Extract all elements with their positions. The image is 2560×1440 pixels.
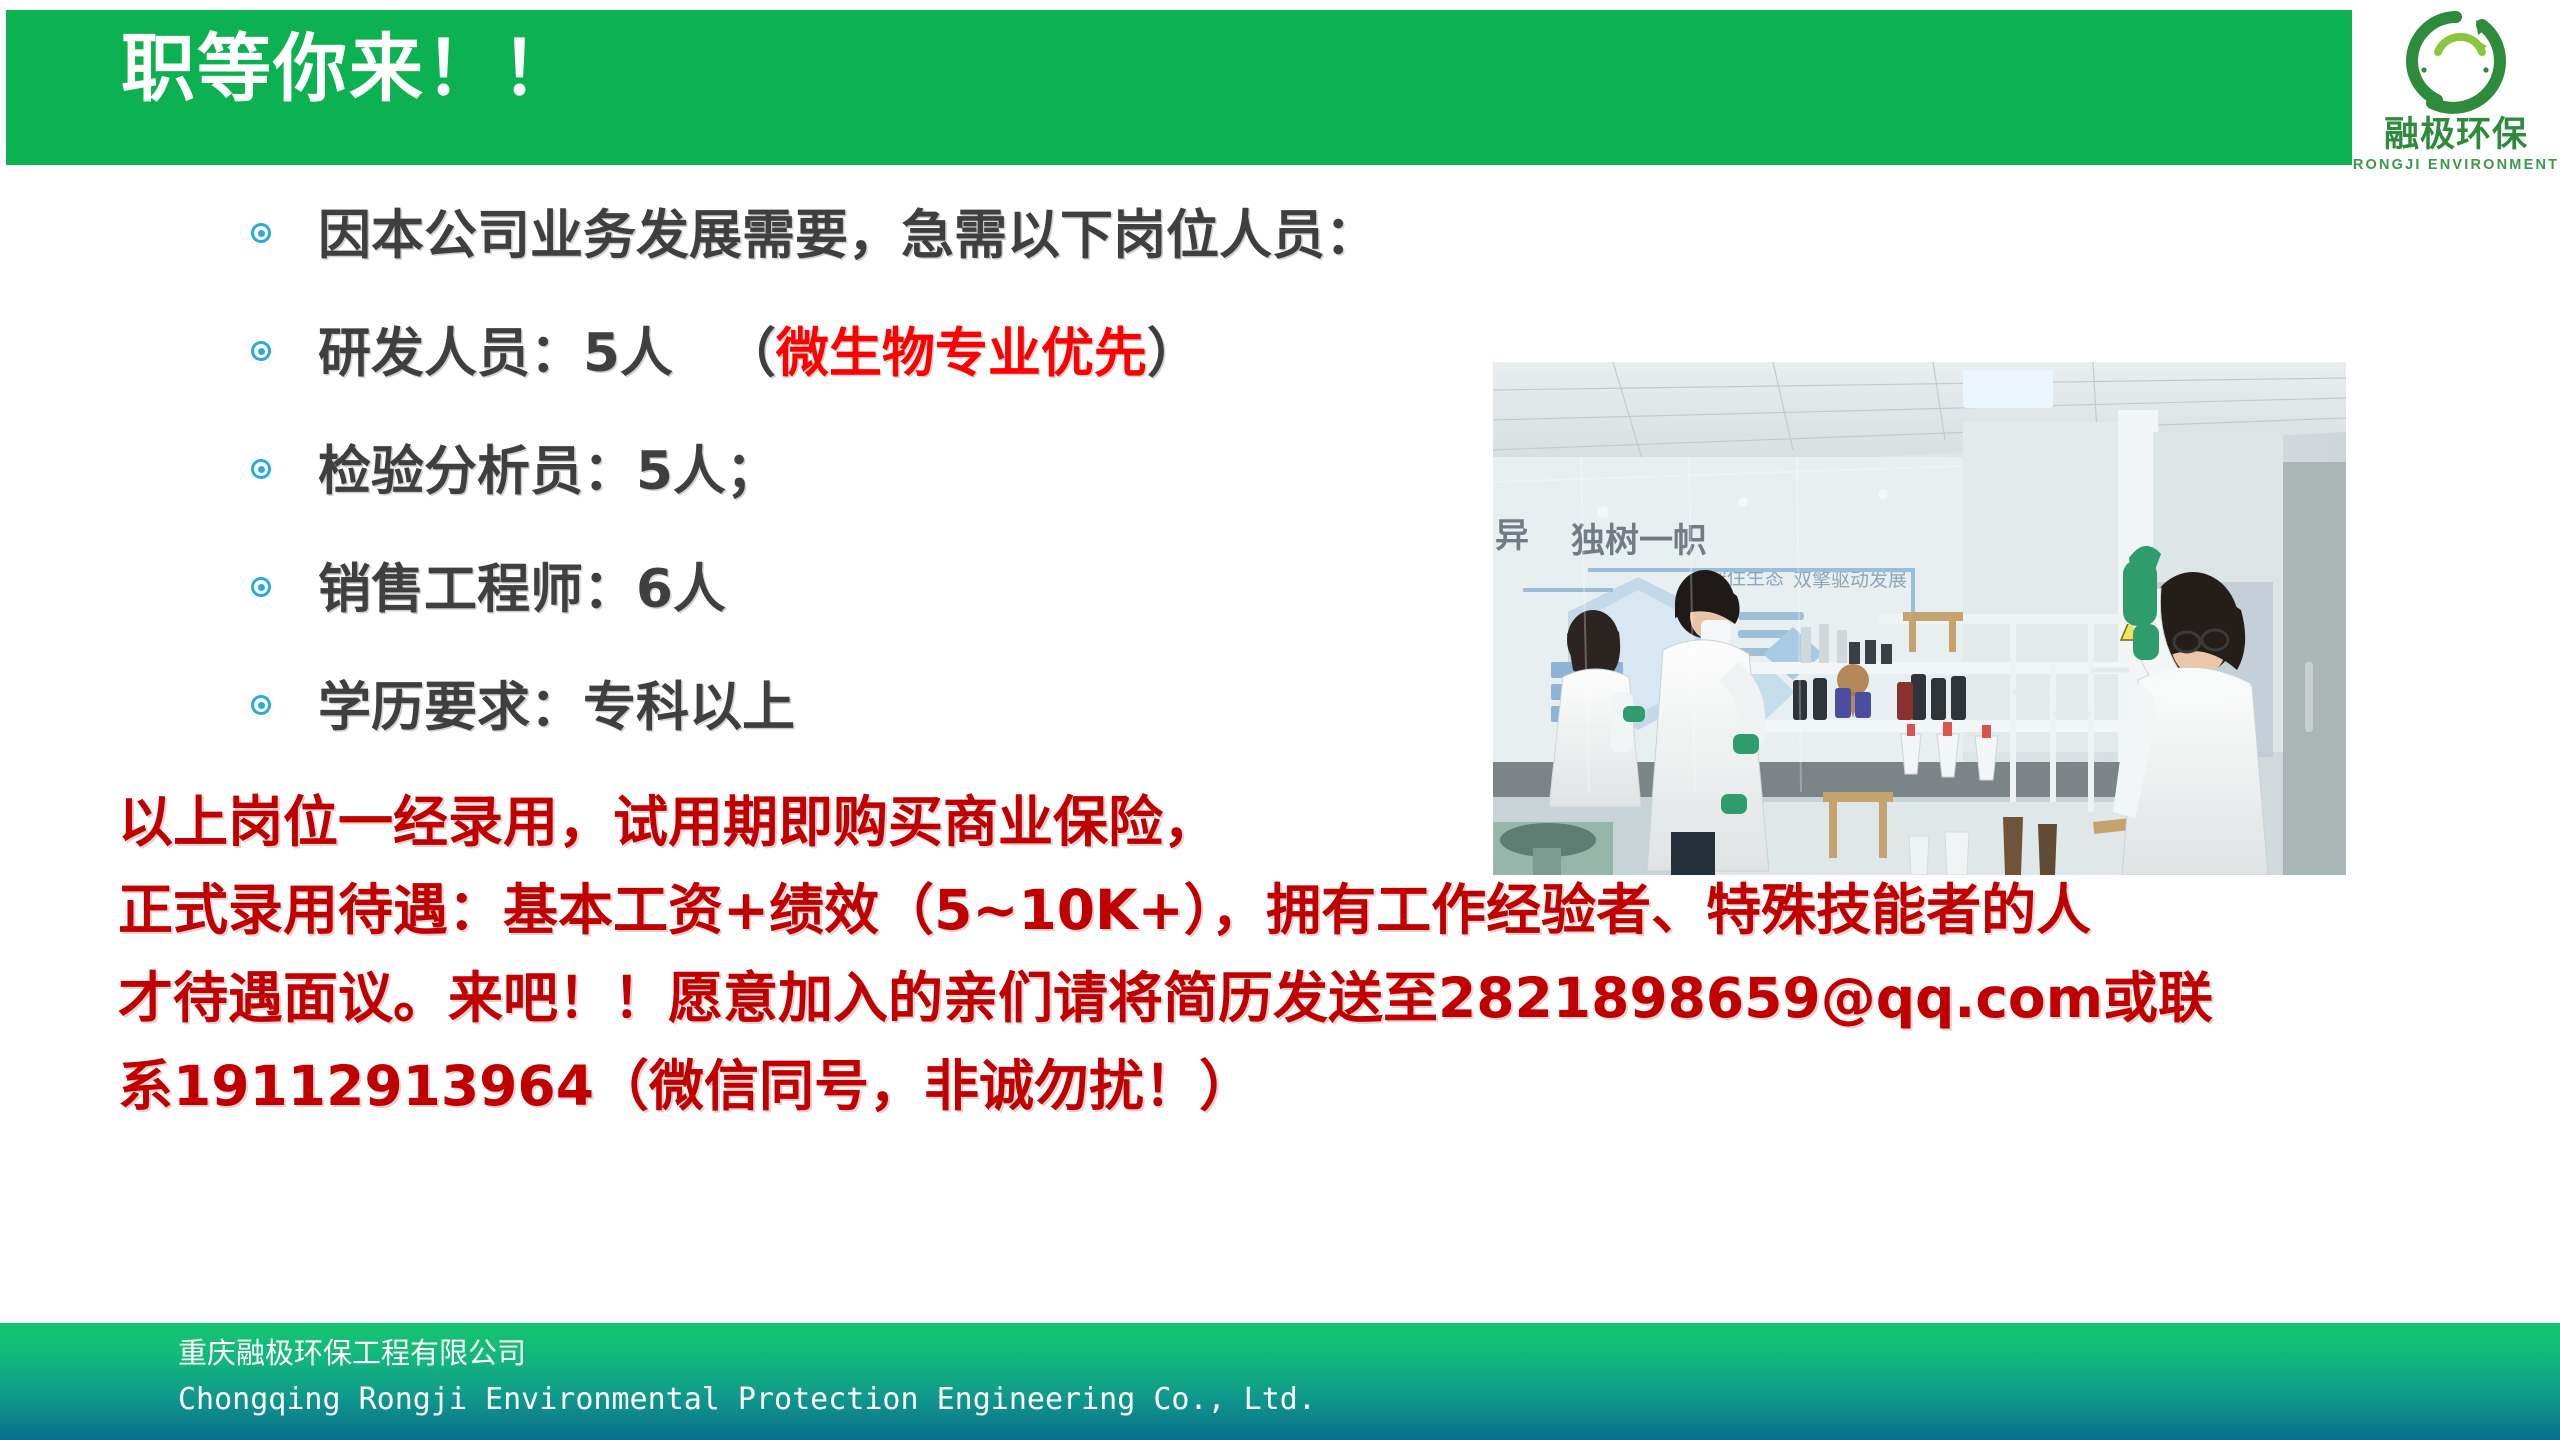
svg-text:异: 异	[1495, 516, 1529, 556]
recycle-circle-icon	[2402, 8, 2510, 116]
svg-text:独树一帜: 独树一帜	[1571, 521, 1707, 561]
paren-close: ）	[1147, 323, 1200, 384]
bullet-dot-icon	[246, 572, 280, 606]
list-item: 销售工程师：6人	[246, 550, 1546, 628]
bullet-label-intro: 因本公司业务发展需要，急需以下岗位人员：	[318, 209, 1378, 262]
logo-name-cn: 融极环保	[2384, 118, 2528, 153]
list-item: 因本公司业务发展需要，急需以下岗位人员：	[246, 196, 1546, 274]
notice-line-3: 才待遇面议。来吧！！愿意加入的亲们请将简历发送至2821898659@qq.co…	[118, 958, 2498, 1038]
footer-company-en: Chongqing Rongji Environmental Protectio…	[178, 1385, 1316, 1415]
list-item: 学历要求：专科以上	[246, 668, 1546, 746]
company-logo: 融极环保 RONGJI ENVIRONMENT	[2352, 0, 2560, 200]
notice-paragraph: 以上岗位一经录用，试用期即购买商业保险， 正式录用待遇：基本工资+绩效（5~10…	[118, 782, 2498, 1134]
paren-open: （	[723, 323, 776, 384]
bullet-dot-icon	[246, 690, 280, 724]
bullet-label-rd: 研发人员：5人（微生物专业优先）	[318, 327, 1200, 380]
bullet-label-education: 学历要求：专科以上	[318, 681, 795, 734]
slide-canvas: 职等你来！！ 融极环保 RONGJI ENVIRONMENT	[0, 0, 2560, 1440]
bullet-dot-icon	[246, 336, 280, 370]
bullet-dot-icon	[246, 218, 280, 252]
header-bar: 职等你来！！	[6, 10, 2546, 165]
notice-line-1: 以上岗位一经录用，试用期即购买商业保险，	[118, 782, 2498, 862]
rd-count-text: 研发人员：5人	[318, 323, 673, 384]
notice-line-4: 系19112913964（微信同号，非诚勿扰！）	[118, 1046, 2498, 1126]
job-bullet-list: 因本公司业务发展需要，急需以下岗位人员： 研发人员：5人（微生物专业优先） 检验…	[246, 196, 1546, 786]
footer-bar: 重庆融极环保工程有限公司 Chongqing Rongji Environmen…	[0, 1323, 2560, 1440]
bullet-label-sales-engineer: 销售工程师：6人	[318, 563, 726, 616]
bullet-dot-icon	[246, 454, 280, 488]
rd-preference-highlight: 微生物专业优先	[776, 323, 1147, 384]
logo-name-en: RONGJI ENVIRONMENT	[2353, 158, 2559, 173]
bullet-label-analyst: 检验分析员：5人；	[318, 445, 779, 498]
page-title: 职等你来！！	[121, 32, 577, 106]
list-item: 检验分析员：5人；	[246, 432, 1546, 510]
list-item: 研发人员：5人（微生物专业优先）	[246, 314, 1546, 392]
footer-company-cn: 重庆融极环保工程有限公司	[178, 1339, 526, 1368]
notice-line-2: 正式录用待遇：基本工资+绩效（5~10K+），拥有工作经验者、特殊技能者的人	[118, 870, 2498, 950]
svg-text:双擎驱动发展: 双擎驱动发展	[1793, 569, 1907, 591]
